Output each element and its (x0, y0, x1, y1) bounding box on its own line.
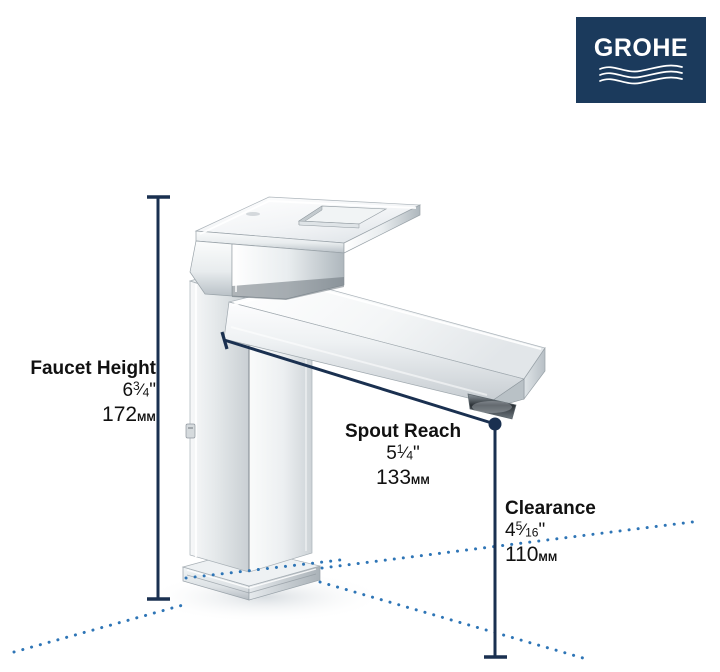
faucet-height-fraction: 3⁄4 (133, 379, 149, 400)
spout-reach-fraction: 1⁄4 (397, 442, 413, 463)
product-dimension-diagram: GROHE Faucet Height 63⁄4" 172MM Spout Re… (0, 0, 720, 672)
dotted-line-right-front (320, 582, 583, 658)
faucet-height-inch-mark: " (149, 380, 156, 401)
spout-reach-metric: 133MM (327, 466, 479, 491)
spout-reach-whole: 5 (386, 443, 397, 464)
spout-reach-dimension-line (222, 332, 502, 431)
clearance-metric: 110MM (505, 543, 695, 568)
spout-reach-inch-mark: " (413, 443, 420, 464)
spout-reach-title: Spout Reach (327, 421, 479, 443)
clearance-fraction: 5⁄16 (516, 519, 539, 540)
clearance-metric-value: 110 (505, 543, 538, 566)
faucet-height-metric-value: 172 (102, 403, 137, 426)
grohe-logo: GROHE (576, 17, 706, 103)
spout-reach-label: Spout Reach 51⁄4" 133MM (327, 421, 479, 491)
clearance-title: Clearance (505, 498, 695, 520)
clearance-dimension-line (484, 424, 507, 657)
clearance-label: Clearance 45⁄16" 110MM (505, 498, 695, 568)
faucet-height-title: Faucet Height (4, 358, 156, 380)
faucet-height-metric-unit: MM (137, 412, 156, 424)
clearance-whole: 4 (505, 520, 516, 541)
faucet-height-metric: 172MM (4, 403, 156, 428)
wave-lines-icon (598, 63, 684, 85)
dotted-line-left-front (14, 605, 183, 652)
spout-reach-imperial: 51⁄4" (327, 443, 479, 465)
brand-wordmark: GROHE (594, 36, 688, 61)
spout-reach-metric-unit: MM (411, 475, 430, 487)
clearance-imperial: 45⁄16" (505, 520, 695, 542)
faucet-height-imperial: 63⁄4" (4, 380, 156, 402)
dotted-line-left-back (186, 560, 340, 578)
clearance-inch-mark: " (538, 520, 545, 541)
spout-reach-metric-value: 133 (376, 466, 411, 489)
clearance-metric-unit: MM (538, 552, 557, 564)
faucet-height-whole: 6 (122, 380, 133, 401)
faucet-height-label: Faucet Height 63⁄4" 172MM (4, 358, 156, 428)
